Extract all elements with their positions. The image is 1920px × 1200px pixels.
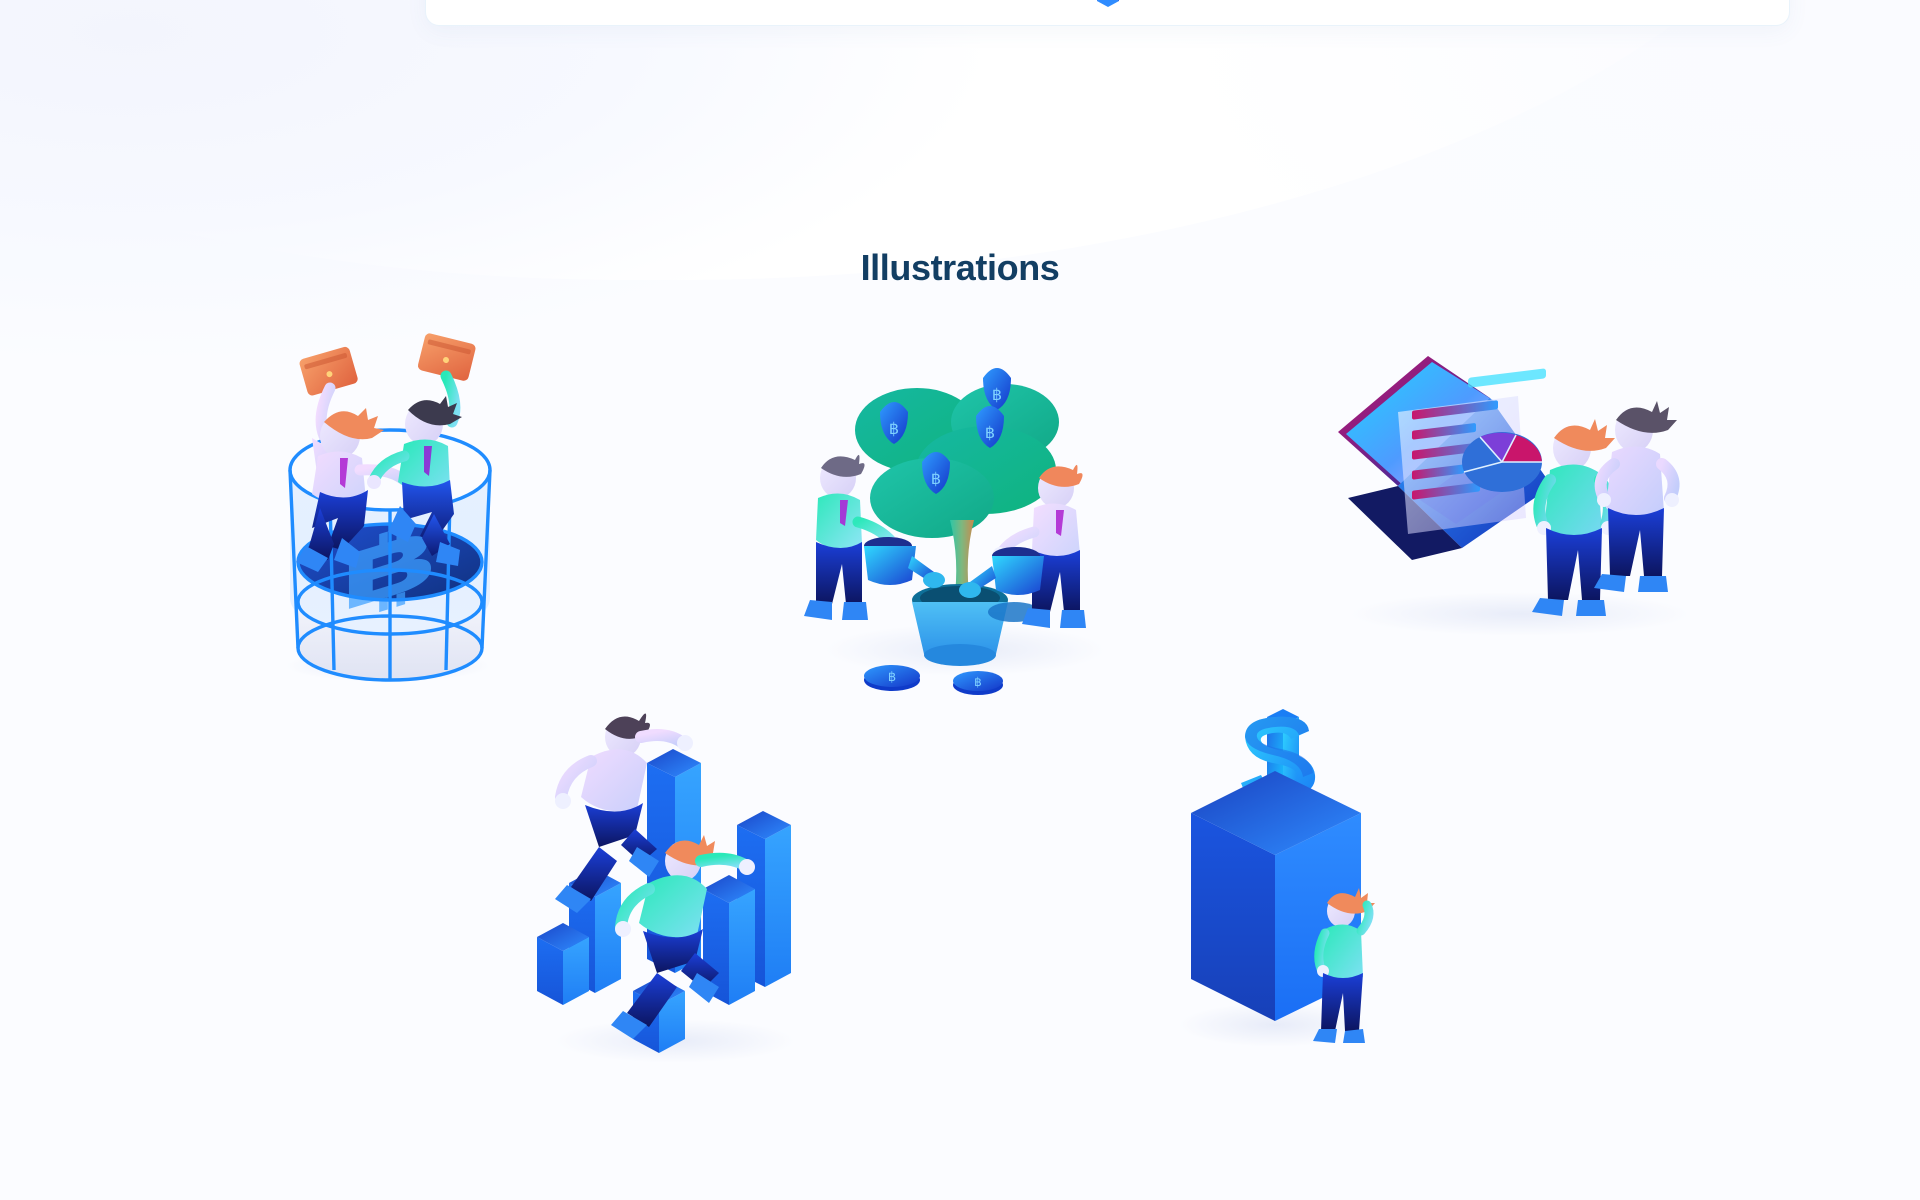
dollar-pedestal-illustration[interactable]: [1175, 705, 1385, 1065]
ground-shadow: [1350, 592, 1690, 636]
blue-3d-badge-icon: [1081, 0, 1135, 28]
shirt: [1606, 446, 1664, 518]
flower-pot: [912, 584, 1008, 666]
shoe: [1343, 1029, 1365, 1043]
laptop-analytics-illustration[interactable]: [1320, 352, 1700, 642]
viewer-right: [1594, 401, 1679, 592]
top-card[interactable]: [425, 0, 1790, 26]
svg-text:฿: ฿: [931, 471, 941, 488]
page-title: Illustrations: [0, 247, 1920, 289]
watering-can-right: [959, 547, 1044, 598]
bitcoin-trampoline-illustration[interactable]: [268, 330, 518, 690]
pie-chart: [1462, 432, 1542, 492]
illustrations-page: Illustrations: [0, 0, 1920, 1200]
background-tint-left: [0, 0, 980, 360]
svg-text:฿: ฿: [985, 425, 995, 442]
pants: [816, 542, 862, 604]
background-curve-shape: [0, 0, 1860, 280]
svg-text:฿: ฿: [889, 421, 899, 438]
pants: [1608, 508, 1664, 576]
bar-chart-climbing-illustration[interactable]: [525, 705, 805, 1065]
watering-can-left: [864, 537, 945, 588]
svg-text:฿: ฿: [888, 669, 896, 684]
svg-text:฿: ฿: [992, 387, 1002, 404]
pants: [1546, 528, 1602, 600]
background-tint-right: [1160, 0, 1920, 400]
bar-2: [537, 923, 589, 1005]
svg-text:฿: ฿: [974, 675, 982, 689]
money-tree-illustration[interactable]: ฿ ฿ ฿ ฿ ฿ ฿: [800, 350, 1130, 700]
